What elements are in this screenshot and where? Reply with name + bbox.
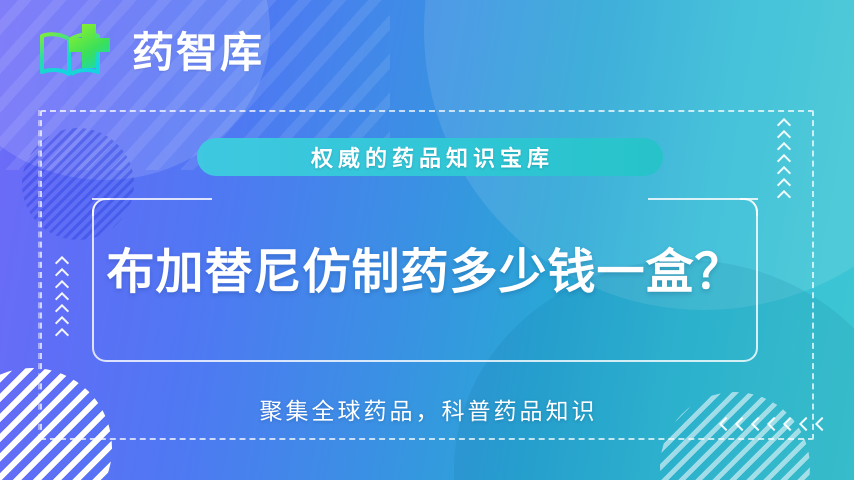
promo-banner: 药智库 权威的药品知识宝库 布加替尼仿制药多少钱一盒？ 聚集全球药品，科普药品知…	[0, 0, 854, 480]
chevron-group-left	[56, 256, 69, 337]
chevron-up-icon	[778, 154, 791, 163]
chevron-up-icon	[56, 292, 69, 301]
chevron-up-icon	[778, 118, 791, 127]
dashed-guide-line	[38, 110, 40, 440]
inner-frame-top-left	[92, 198, 212, 200]
chevron-up-icon	[778, 142, 791, 151]
brand-name: 药智库	[132, 32, 264, 74]
chevron-up-icon	[56, 328, 69, 337]
chevron-up-icon	[56, 304, 69, 313]
chevron-up-icon	[56, 280, 69, 289]
chevron-up-icon	[56, 316, 69, 325]
tagline: 聚集全球药品，科普药品知识	[0, 392, 854, 426]
open-book-with-cross-icon	[36, 22, 120, 84]
brand-logo[interactable]: 药智库	[36, 22, 264, 84]
chevron-up-icon	[778, 130, 791, 139]
chevron-up-icon	[778, 190, 791, 199]
chevron-up-icon	[778, 178, 791, 187]
chevron-up-icon	[56, 256, 69, 265]
chevron-up-icon	[778, 166, 791, 175]
chevron-group-right	[778, 118, 791, 199]
subtitle-pill-text: 权威的药品知识宝库	[306, 141, 554, 173]
subtitle-pill: 权威的药品知识宝库	[197, 138, 663, 176]
chevron-up-icon	[56, 268, 69, 277]
page-title: 布加替尼仿制药多少钱一盒？	[92, 246, 758, 299]
